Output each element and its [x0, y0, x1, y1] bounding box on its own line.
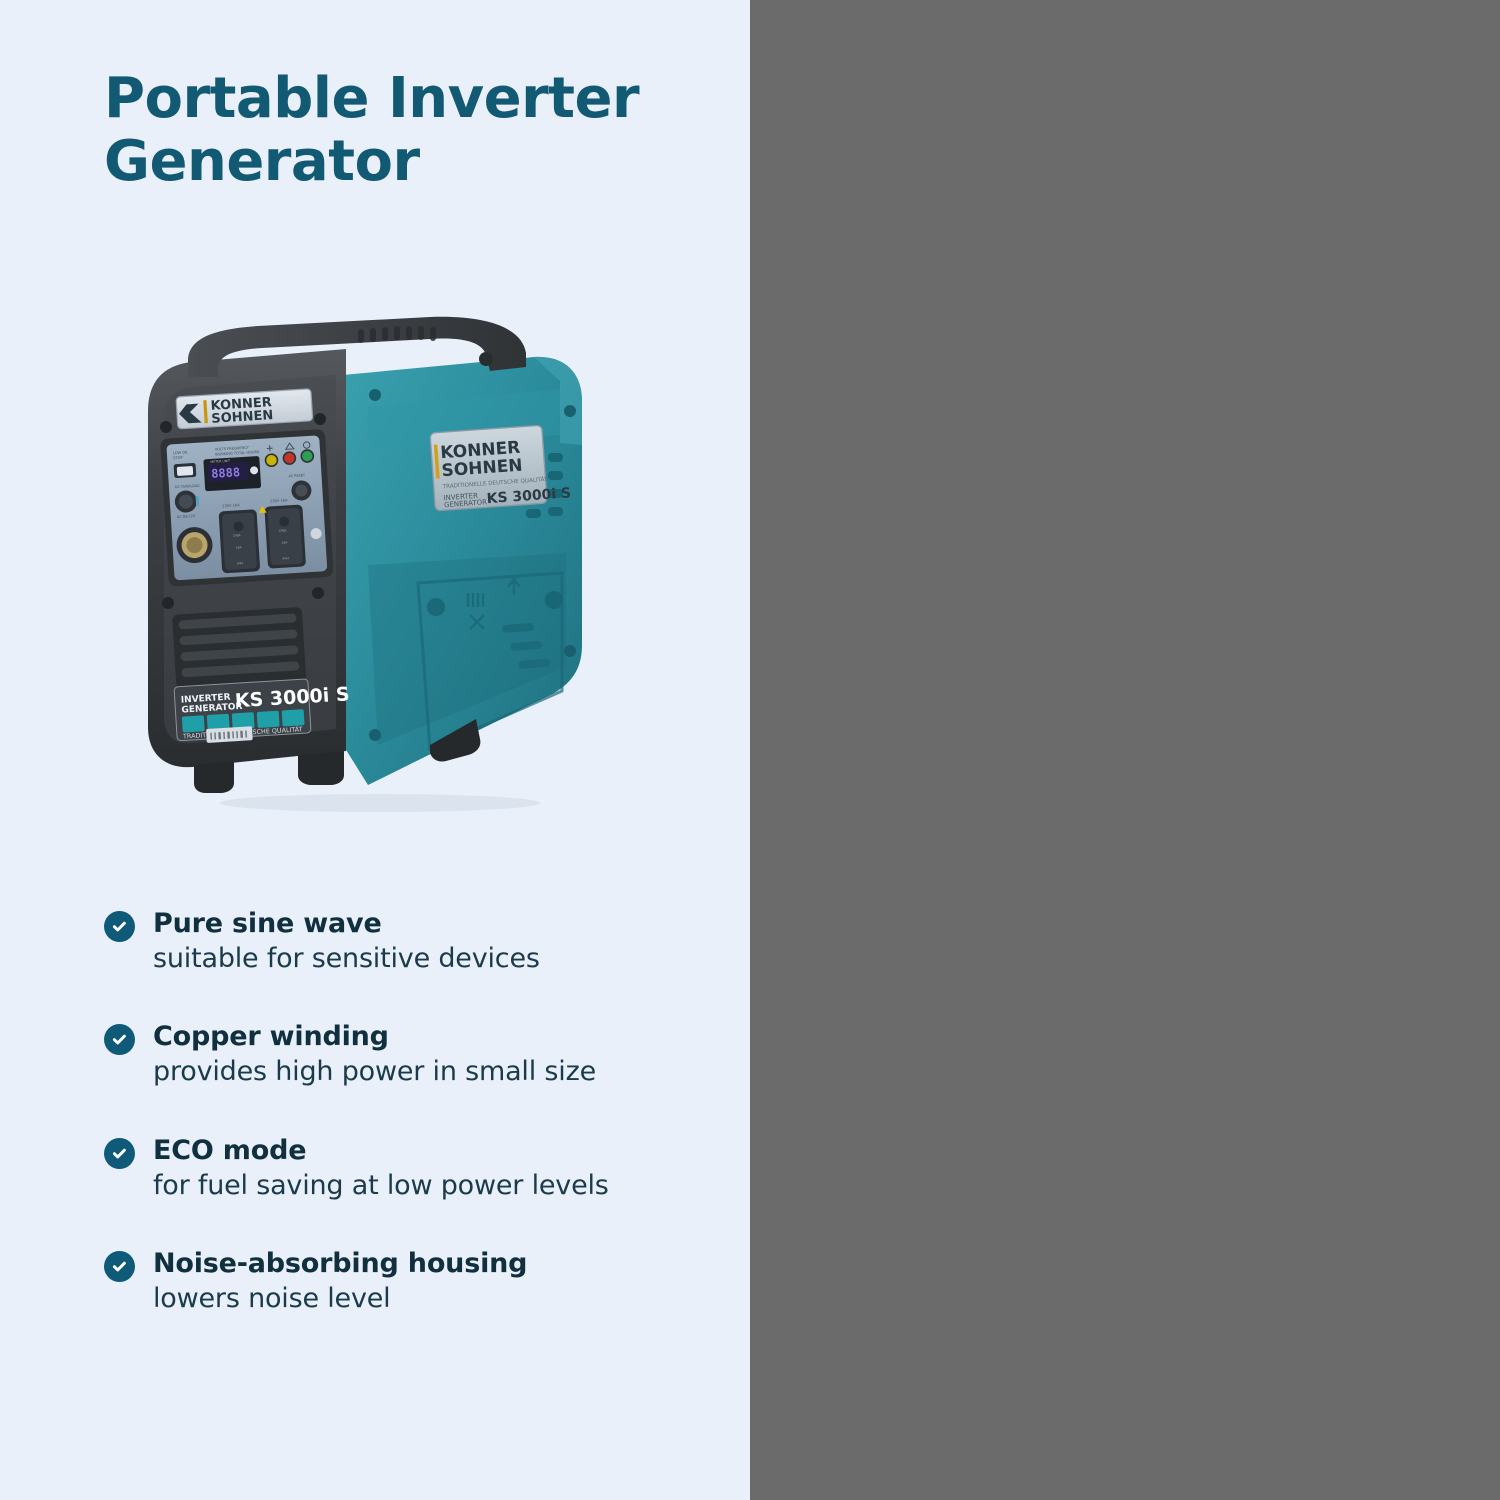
- list-item: Noise-absorbing housing lowers noise lev…: [104, 1248, 734, 1315]
- feature-subtitle: for fuel saving at low power levels: [153, 1170, 734, 1202]
- svg-text:IP44: IP44: [237, 561, 244, 565]
- feature-subtitle: suitable for sensitive devices: [153, 943, 734, 975]
- list-item: Copper winding provides high power in sm…: [104, 1021, 734, 1088]
- comparison-infographic: Portable Inverter Generator: [0, 0, 1500, 1500]
- svg-text:CMJA: CMJA: [279, 528, 288, 533]
- advantages-list: Pure sine wave suitable for sensitive de…: [104, 908, 734, 1316]
- feature-title: ECO mode: [153, 1135, 734, 1166]
- page-title-left: Portable Inverter Generator: [104, 68, 704, 193]
- inverter-generator-image: KONNER SOHNEN TRADITIONELLE DEUTSCHE QUA…: [130, 315, 600, 815]
- feature-subtitle: provides high power in small size: [153, 1056, 734, 1088]
- feature-title: Noise-absorbing housing: [153, 1248, 734, 1279]
- svg-text:CMJA: CMJA: [233, 533, 242, 538]
- svg-text:STOP: STOP: [173, 456, 184, 461]
- list-item: Pure sine wave suitable for sensitive de…: [104, 908, 734, 975]
- svg-text:8888: 8888: [211, 465, 241, 481]
- svg-text:IP44: IP44: [282, 556, 289, 560]
- feature-title: Pure sine wave: [153, 908, 734, 939]
- feature-subtitle: lowers noise level: [153, 1283, 734, 1315]
- check-circle-icon: [104, 1138, 135, 1169]
- list-item: ECO mode for fuel saving at low power le…: [104, 1135, 734, 1202]
- traditional-generator-panel: Traditional gasoline generator: [750, 0, 1500, 1500]
- check-circle-icon: [104, 911, 135, 942]
- inverter-generator-panel: Portable Inverter Generator: [0, 0, 750, 1500]
- check-circle-icon: [104, 1251, 135, 1282]
- check-circle-icon: [104, 1024, 135, 1055]
- feature-title: Copper winding: [153, 1021, 734, 1052]
